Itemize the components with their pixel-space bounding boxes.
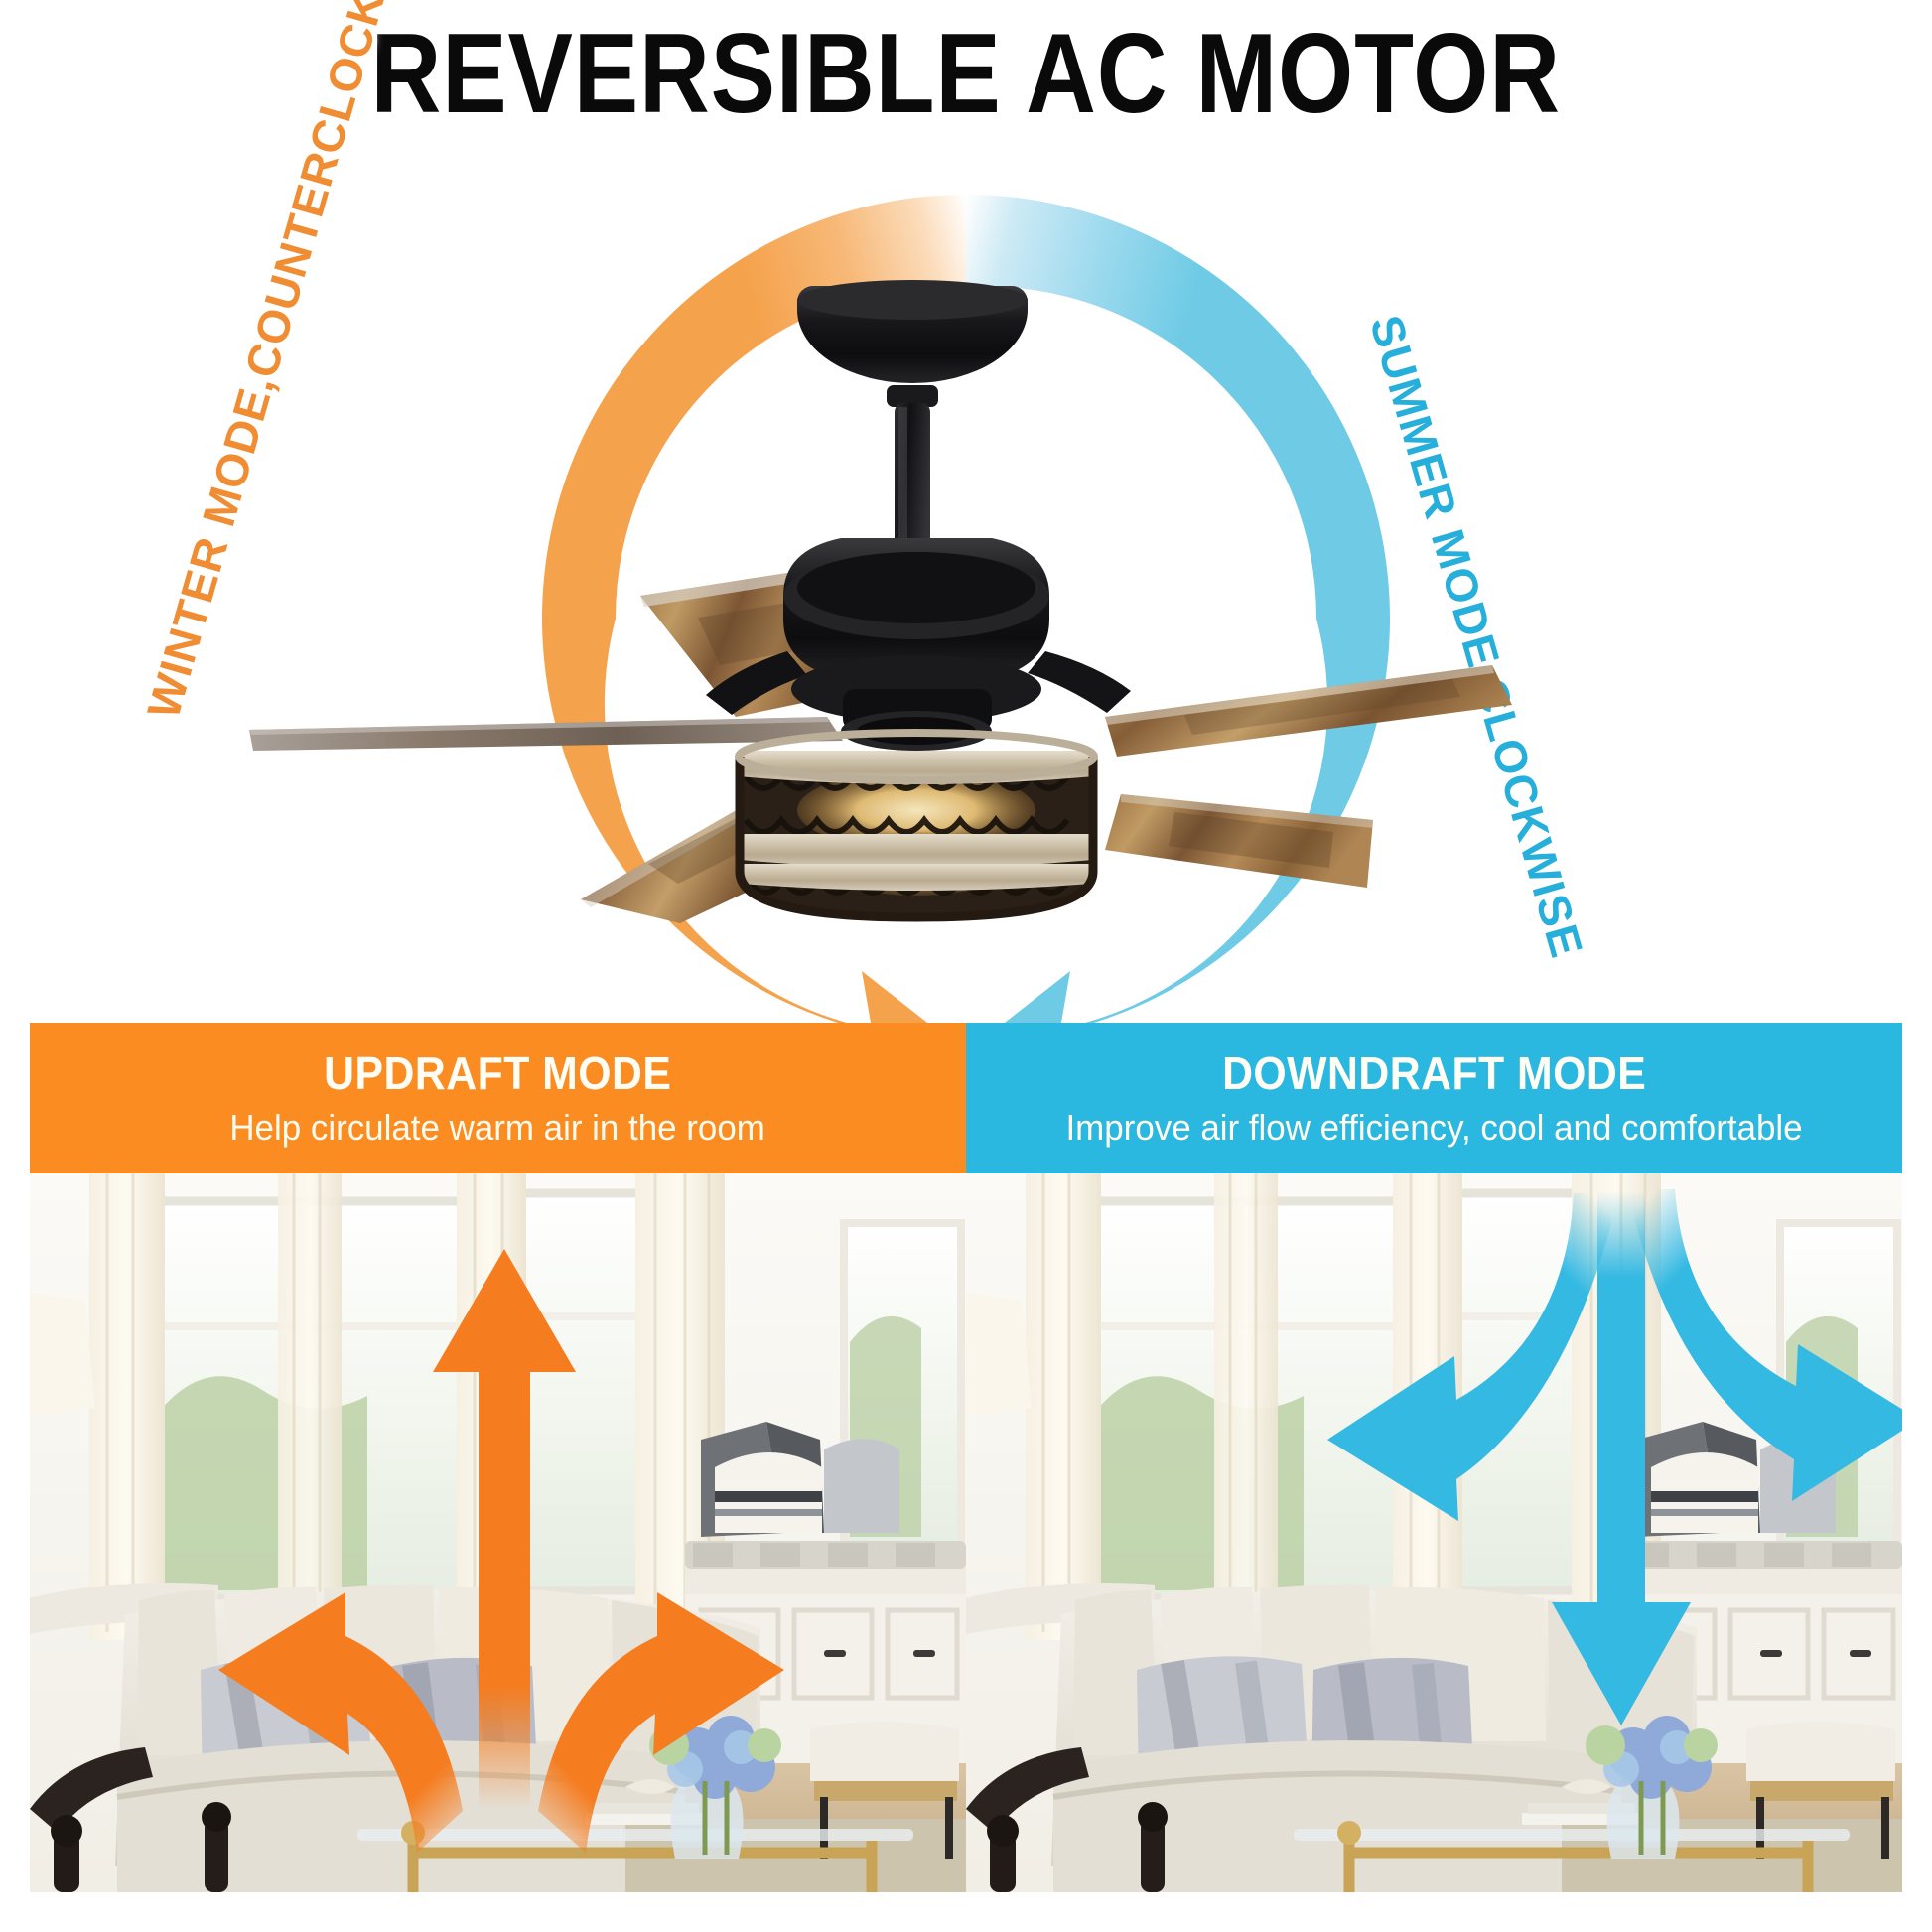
ceiling-fan-product-image	[231, 268, 1701, 923]
updraft-banner: UPDRAFT MODE Help circulate warm air in …	[30, 1023, 966, 1173]
downdraft-room-photo	[966, 1173, 1902, 1892]
light-wood-band-lower	[742, 864, 1091, 891]
arrow-up-left	[218, 1592, 463, 1853]
fan-blade-lower-right	[1105, 794, 1373, 888]
downdraft-banner: DOWNDRAFT MODE Improve air flow efficien…	[966, 1023, 1902, 1173]
downdraft-airflow-arrows	[966, 1173, 1902, 1892]
updraft-title: UPDRAFT MODE	[324, 1050, 671, 1096]
downdraft-title: DOWNDRAFT MODE	[1222, 1050, 1646, 1096]
fan-blade-right	[1105, 665, 1512, 757]
downdraft-subtitle: Improve air flow efficiency, cool and co…	[1065, 1110, 1802, 1146]
reversible-motor-diagram: WINTER MODE,COUNTERCLOCKWISE SUMMER MODE…	[0, 149, 1932, 1023]
arrow-down-right	[1627, 1189, 1902, 1501]
updraft-airflow-arrows	[30, 1173, 966, 1892]
updraft-room-photo	[30, 1173, 966, 1892]
panel-updraft-mode: UPDRAFT MODE Help circulate warm air in …	[30, 1023, 966, 1892]
page-title: REVERSIBLE AC MOTOR	[371, 18, 1561, 131]
arrow-up-right	[538, 1592, 784, 1853]
arrow-up-center	[433, 1249, 576, 1809]
page-header: REVERSIBLE AC MOTOR	[0, 0, 1932, 149]
fan-light-fixture	[738, 733, 1095, 917]
arrow-down-left	[1327, 1193, 1619, 1521]
panel-downdraft-mode: DOWNDRAFT MODE Improve air flow efficien…	[966, 1023, 1902, 1892]
light-wood-band-middle	[740, 834, 1093, 868]
updraft-subtitle: Help circulate warm air in the room	[230, 1110, 766, 1146]
mode-comparison-panels: UPDRAFT MODE Help circulate warm air in …	[0, 1023, 1932, 1932]
